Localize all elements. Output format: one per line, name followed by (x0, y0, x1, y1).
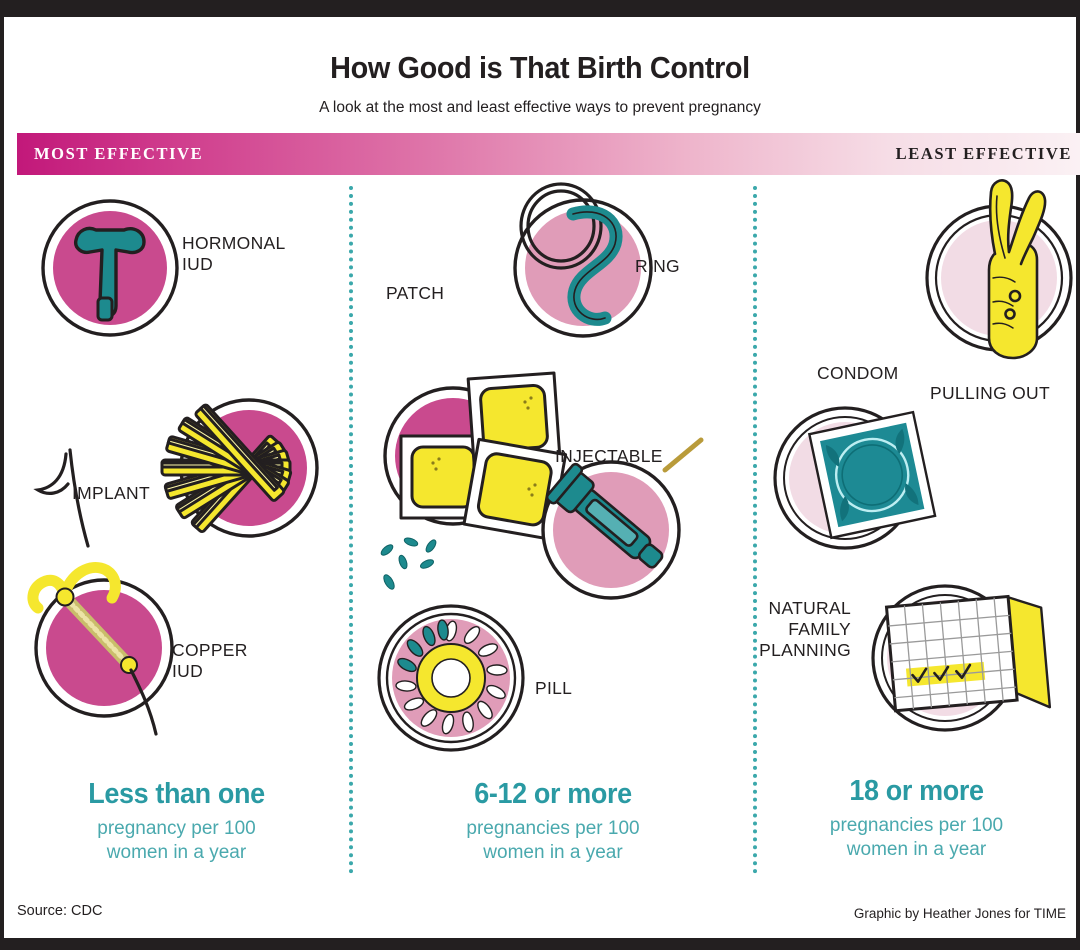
source-note: Source: CDC (17, 903, 102, 919)
credit-note: Graphic by Heather Jones for TIME (854, 906, 1066, 921)
label-ring: RING (635, 256, 680, 277)
effectiveness-scale-bar: MOST EFFECTIVE LEAST EFFECTIVE (17, 133, 1080, 175)
footer: Source: CDC Graphic by Heather Jones for… (0, 895, 1080, 935)
methods-columns: HORMONAL IUD IMPLANT COPPER IUD Less tha… (4, 178, 1076, 883)
column-3-artwork (757, 178, 1076, 778)
condom-icon (775, 408, 935, 548)
caption-subtext: pregnancy per 100 women in a year (4, 817, 349, 866)
caption-headline: Less than one (16, 778, 337, 811)
bottom-border-bar (0, 938, 1080, 950)
column-moderately-effective: RING PATCH INJECTABLE PILL 6-12 or more … (353, 178, 753, 883)
caption-headline: 6-12 or more (367, 778, 739, 811)
natural-family-planning-icon (873, 586, 1050, 730)
page-subtitle: A look at the most and least effective w… (0, 99, 1080, 117)
label-copper-iud: COPPER IUD (172, 640, 248, 682)
column-least-effective: PULLING OUT CONDOM NATURAL FAMILY PLANNI… (757, 178, 1076, 883)
ring-icon (515, 184, 651, 336)
caption-moderately-effective: 6-12 or more pregnancies per 100 women i… (353, 778, 753, 866)
caption-subtext: pregnancies per 100 women in a year (353, 817, 753, 866)
label-injectable: INJECTABLE (555, 446, 663, 467)
label-condom: CONDOM (817, 363, 899, 384)
patch-icon (385, 373, 566, 539)
column-1-artwork (4, 178, 349, 778)
caption-most-effective: Less than one pregnancy per 100 women in… (4, 778, 349, 866)
label-pill: PILL (535, 678, 572, 699)
label-hormonal-iud: HORMONAL IUD (182, 233, 286, 275)
infographic-frame: How Good is That Birth Control A look at… (0, 0, 1080, 950)
top-border-bar (0, 0, 1080, 17)
copper-iud-icon (33, 568, 172, 734)
least-effective-label: LEAST EFFECTIVE (896, 144, 1072, 164)
caption-least-effective: 18 or more pregnancies per 100 women in … (757, 775, 1076, 863)
pill-icon (379, 536, 523, 750)
caption-headline: 18 or more (768, 775, 1065, 808)
label-pulling-out: PULLING OUT (905, 383, 1075, 404)
label-implant: IMPLANT (72, 483, 150, 504)
header: How Good is That Birth Control A look at… (0, 22, 1080, 117)
label-patch: PATCH (386, 283, 444, 304)
implant-icon (162, 400, 317, 536)
page-title: How Good is That Birth Control (38, 50, 1042, 86)
column-most-effective: HORMONAL IUD IMPLANT COPPER IUD Less tha… (4, 178, 349, 883)
most-effective-label: MOST EFFECTIVE (34, 144, 203, 164)
caption-subtext: pregnancies per 100 women in a year (757, 814, 1076, 863)
pulling-out-icon (927, 180, 1071, 358)
label-natural-family-planning: NATURAL FAMILY PLANNING (741, 598, 851, 661)
